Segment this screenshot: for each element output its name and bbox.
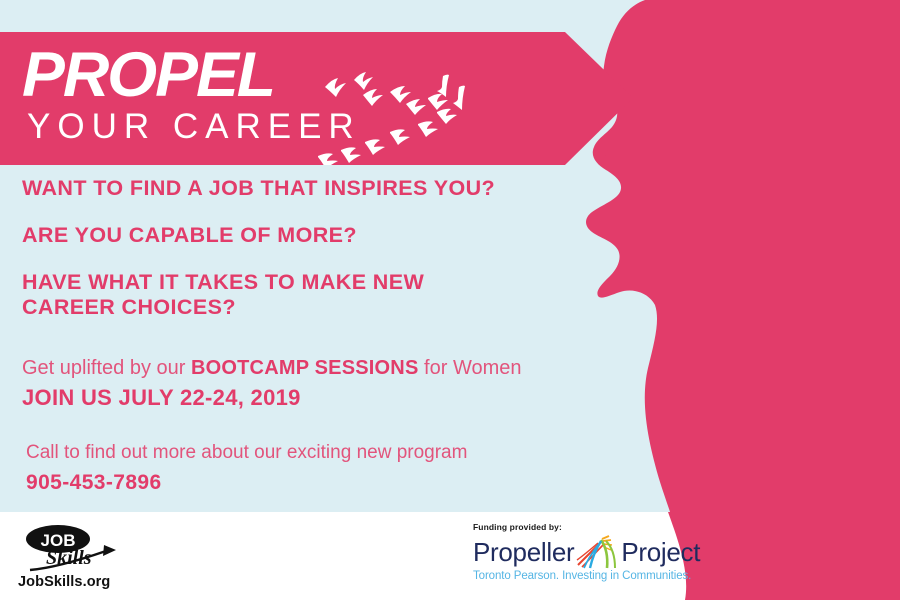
jobskills-website[interactable]: JobSkills.org xyxy=(18,574,198,590)
event-dates: JOIN US JULY 22-24, 2019 xyxy=(22,384,582,412)
headline-question-1: WANT TO FIND A JOB THAT INSPIRES YOU? xyxy=(22,176,562,201)
jobskills-logo-icon: JOB Skills xyxy=(18,524,128,572)
header-banner xyxy=(0,32,900,165)
funding-label: Funding provided by: xyxy=(473,522,703,532)
propeller-tagline: Toronto Pearson. Investing in Communitie… xyxy=(473,570,703,582)
poster-canvas: PROPEL YOUR CAREER WANT TO FIND A JOB TH… xyxy=(0,0,900,600)
headline-group: WANT TO FIND A JOB THAT INSPIRES YOU? AR… xyxy=(22,176,562,320)
propeller-project-logo[interactable]: Funding provided by: Propeller xyxy=(473,522,703,582)
headline-question-2: ARE YOU CAPABLE OF MORE? xyxy=(22,223,562,248)
lead-suffix: for Women xyxy=(419,357,522,379)
call-prompt: Call to find out more about our exciting… xyxy=(26,440,586,465)
jobskills-logo[interactable]: JOB Skills JobSkills.org xyxy=(18,524,198,590)
propeller-name-first: Propeller xyxy=(473,537,574,568)
propeller-bird-icon xyxy=(576,535,620,569)
propeller-wordmark: Propeller Project xyxy=(473,535,703,569)
body-copy-group: Get uplifted by our BOOTCAMP SESSIONS fo… xyxy=(22,355,582,412)
call-to-action-group: Call to find out more about our exciting… xyxy=(26,440,586,496)
bootcamp-lead-line: Get uplifted by our BOOTCAMP SESSIONS fo… xyxy=(22,355,582,381)
lead-emphasis: BOOTCAMP SESSIONS xyxy=(191,357,419,379)
lead-prefix: Get uplifted by our xyxy=(22,357,191,379)
phone-number[interactable]: 905-453-7896 xyxy=(26,469,586,496)
propeller-name-last: Project xyxy=(621,537,700,568)
headline-question-3: HAVE WHAT IT TAKES TO MAKE NEW CAREER CH… xyxy=(22,270,452,320)
jobskills-mark: JOB Skills xyxy=(18,524,128,572)
